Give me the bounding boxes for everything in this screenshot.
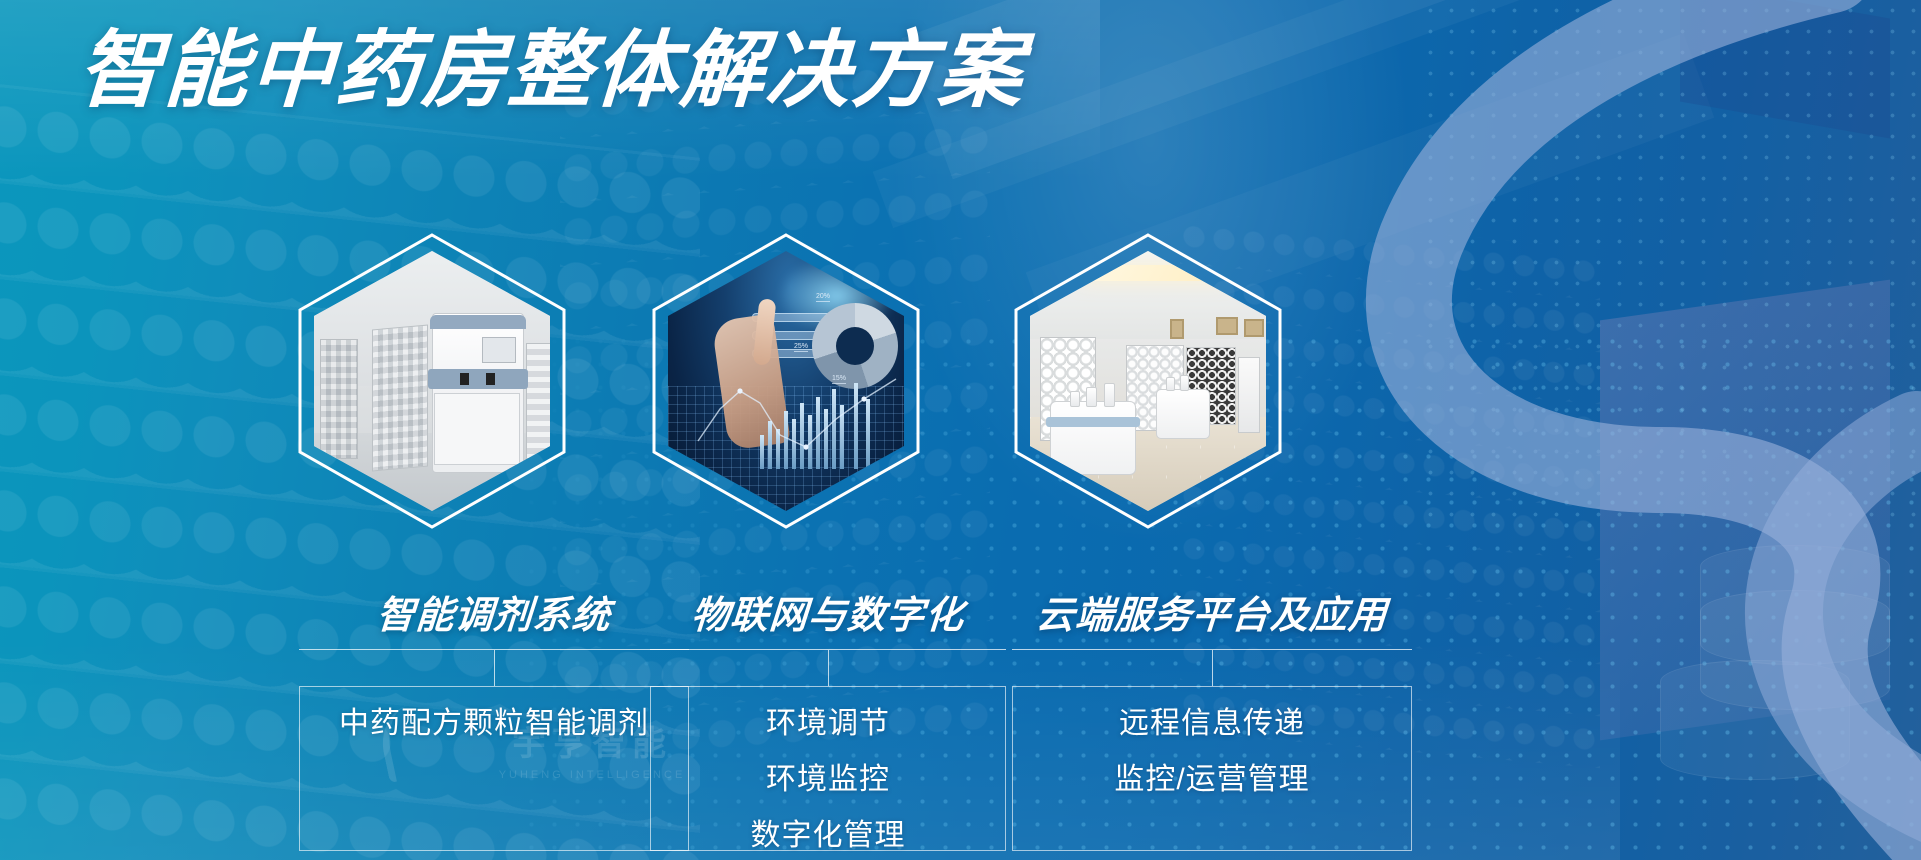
card-body: 环境调节 环境监控 数字化管理 [650,686,1006,851]
feature-card-intelligent-dispensing: 智能调剂系统 中药配方颗粒智能调剂 [299,584,689,851]
card-connector-line [494,650,495,686]
feature-card-iot-digitalization: 物联网与数字化 环境调节 环境监控 数字化管理 [650,584,1006,851]
card-body-line: 环境调节 [766,709,890,739]
card-body: 中药配方颗粒智能调剂 [299,686,689,851]
page-title: 智能中药房整体解决方案 [76,28,1026,112]
hex-outline-icon [650,231,922,531]
card-title: 物联网与数字化 [648,584,1008,639]
card-title: 智能调剂系统 [297,584,691,639]
hex-outline-icon [296,231,568,531]
hex-card-1 [296,231,568,531]
banner-root: 智能中药房整体解决方案 [0,0,1921,860]
card-connector-line [1212,650,1213,686]
card-body-line: 环境监控 [766,765,890,795]
card-connector-line [828,650,829,686]
hex-card-2: 20% 25% 15% [650,231,922,531]
card-body-line: 中药配方颗粒智能调剂 [339,709,649,739]
card-body-line: 监控/运营管理 [1114,765,1309,795]
card-title: 云端服务平台及应用 [1010,584,1414,639]
card-body: 远程信息传递 监控/运营管理 [1012,686,1412,851]
ribbon-svg [1361,0,1921,860]
hex-outline-icon [1012,231,1284,531]
card-body-line: 数字化管理 [751,821,906,851]
hex-card-3 [1012,231,1284,531]
feature-card-cloud-platform: 云端服务平台及应用 远程信息传递 监控/运营管理 [1012,584,1412,851]
decorative-ribbon [1361,0,1921,860]
card-body-line: 远程信息传递 [1119,709,1305,739]
